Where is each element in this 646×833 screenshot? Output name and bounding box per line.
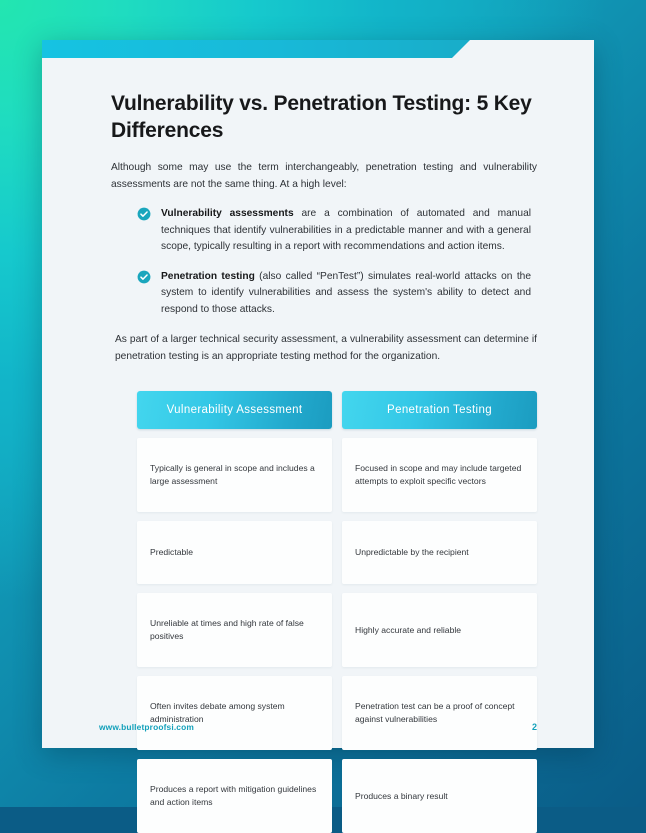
table-cell: Produces a report with mitigation guidel… — [137, 759, 332, 833]
table-header-vulnerability-assessment: Vulnerability Assessment — [137, 391, 332, 429]
bullet-text: Vulnerability assessments are a combinat… — [161, 206, 531, 256]
bullet-text: Penetration testing (also called “PenTes… — [161, 269, 531, 319]
comparison-table: Vulnerability Assessment Penetration Tes… — [42, 391, 594, 833]
footer-page-number: 2 — [532, 722, 537, 732]
table-cell: Unpredictable by the recipient — [342, 521, 537, 584]
table-cell: Typically is general in scope and includ… — [137, 438, 332, 512]
check-circle-icon — [137, 207, 151, 221]
list-item: Penetration testing (also called “PenTes… — [137, 269, 531, 319]
table-cell: Predictable — [137, 521, 332, 584]
table-cell: Produces a binary result — [342, 759, 537, 833]
intro-paragraph: Although some may use the term interchan… — [111, 160, 537, 193]
page-body: Vulnerability vs. Penetration Testing: 5… — [42, 58, 594, 748]
page-top-accent-bar — [42, 40, 470, 58]
bullet-lead: Penetration testing — [161, 271, 255, 282]
table-cell: Highly accurate and reliable — [342, 593, 537, 667]
page-title: Vulnerability vs. Penetration Testing: 5… — [111, 91, 537, 144]
content-area: Vulnerability vs. Penetration Testing: 5… — [42, 58, 594, 365]
list-item: Vulnerability assessments are a combinat… — [137, 206, 531, 256]
bullet-lead: Vulnerability assessments — [161, 208, 294, 219]
table-cell: Focused in scope and may include targete… — [342, 438, 537, 512]
document-page: Vulnerability vs. Penetration Testing: 5… — [42, 40, 594, 748]
summary-paragraph: As part of a larger technical security a… — [111, 332, 537, 365]
table-header-penetration-testing: Penetration Testing — [342, 391, 537, 429]
bullet-list: Vulnerability assessments are a combinat… — [111, 206, 537, 318]
check-circle-icon — [137, 270, 151, 284]
footer-website-link[interactable]: www.bulletproofsi.com — [99, 722, 194, 732]
table-cell: Unreliable at times and high rate of fal… — [137, 593, 332, 667]
page-footer: www.bulletproofsi.com 2 — [42, 706, 594, 748]
